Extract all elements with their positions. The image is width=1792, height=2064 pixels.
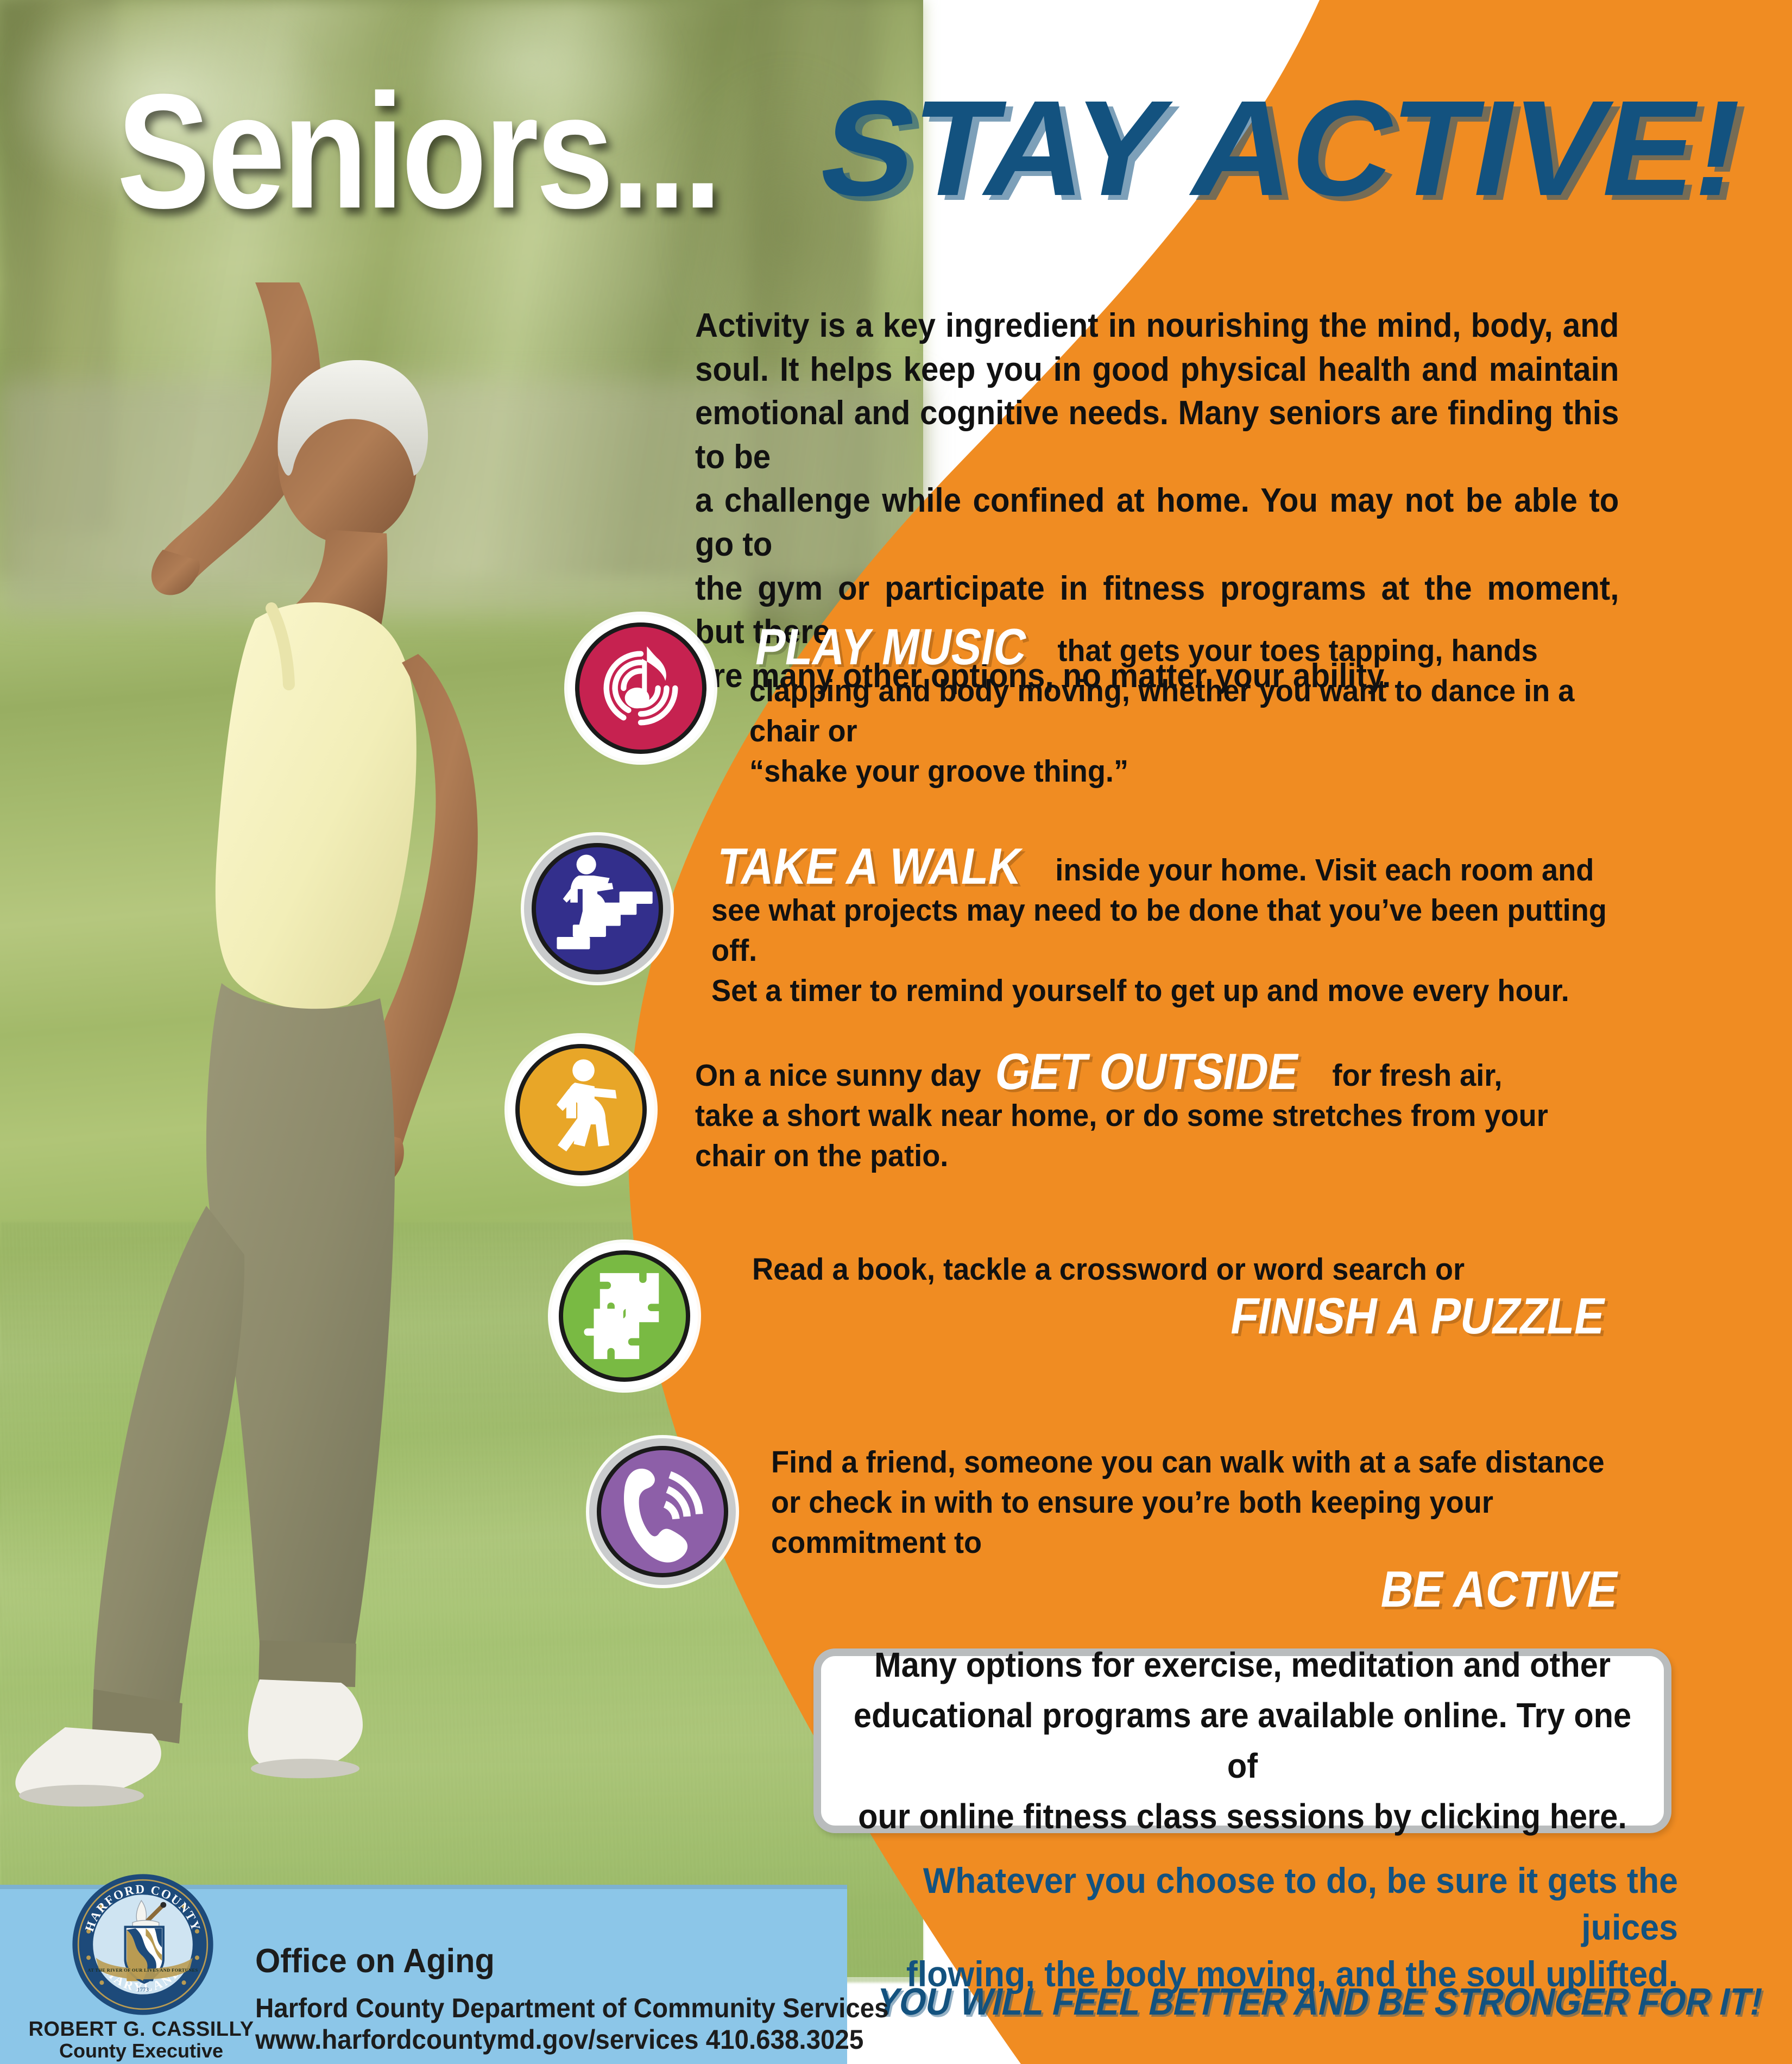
activity-body-be-active-a: Find a friend, someone you can walk with…: [771, 1445, 1605, 1480]
activity-body-take-a-walk-a: inside your home. Visit each room and: [1047, 853, 1594, 888]
activity-body-take-a-walk-b: see what projects may need to be done th…: [711, 893, 1607, 968]
county-executive-title: County Executive: [27, 2040, 255, 2062]
harford-county-seal-logo: HARFORD COUNTY MARYLAND AT THE RIVER OF …: [70, 1871, 216, 2018]
seal-year: 1773: [137, 1986, 149, 1993]
activity-body-get-outside-b: take a short walk near home, or do some …: [695, 1098, 1548, 1133]
activity-body-play-music-c: “shake your groove thing.”: [749, 754, 1128, 789]
online-fitness-callout-box[interactable]: Many options for exercise, meditation an…: [813, 1648, 1671, 1833]
callout-line-2: educational programs are available onlin…: [850, 1690, 1634, 1791]
activity-text-play-music: PLAY MUSIC that gets your toes tapping, …: [749, 624, 1637, 791]
intro-line-2: soul. It helps keep you in good physical…: [695, 348, 1619, 392]
intro-line-1: Activity is a key ingredient in nourishi…: [695, 304, 1619, 348]
intro-line-3: emotional and cognitive needs. Many seni…: [695, 392, 1619, 479]
activity-headline-get-outside: GET OUTSIDE: [989, 1048, 1305, 1095]
activity-body-get-outside-pre: On a nice sunny day: [695, 1058, 989, 1093]
callout-line-3: our online fitness class sessions by cli…: [858, 1791, 1627, 1842]
page-title-stay-active: STAY ACTIVE!: [810, 80, 1754, 216]
intro-line-4: a challenge while confined at home. You …: [695, 479, 1619, 567]
activity-text-take-a-walk: TAKE A WALK inside your home. Visit each…: [711, 843, 1635, 1011]
person-climbing-stairs-icon: [524, 835, 671, 982]
puzzle-pieces-icon: [551, 1243, 698, 1389]
page-title-seniors: Seniors...: [117, 70, 720, 232]
website-and-phone[interactable]: www.harfordcountymd.gov/services 410.638…: [255, 2024, 863, 2055]
activity-headline-play-music: PLAY MUSIC: [749, 624, 1033, 670]
activity-body-finish-a-puzzle-a: Read a book, tackle a crossword or word …: [752, 1252, 1465, 1287]
activity-body-get-outside-c: chair on the patio.: [695, 1138, 948, 1173]
activity-headline-be-active: BE ACTIVE: [1375, 1566, 1625, 1613]
activity-headline-finish-a-puzzle: FINISH A PUZZLE: [1225, 1293, 1612, 1339]
callout-text[interactable]: Many options for exercise, meditation an…: [850, 1656, 1634, 1826]
callout-line-1: Many options for exercise, meditation an…: [874, 1640, 1611, 1690]
seal-motto: AT THE RIVER OF OUR LIVES AND FORTUNES: [87, 1968, 198, 1973]
activity-body-be-active-b: or check in with to ensure you’re both k…: [771, 1485, 1493, 1560]
poster-canvas: Seniors... STAY ACTIVE! Activity is a ke…: [0, 0, 1792, 2064]
activity-text-be-active: Find a friend, someone you can walk with…: [771, 1442, 1638, 1613]
activity-body-play-music-b: clapping and body moving, whether you wa…: [749, 674, 1574, 748]
closing-tagline: YOU WILL FEEL BETTER AND BE STRONGER FOR…: [873, 1980, 1683, 2023]
office-on-aging-title: Office on Aging: [255, 1942, 495, 1980]
activity-headline-take-a-walk: TAKE A WALK: [711, 843, 1028, 890]
activity-text-finish-a-puzzle: Read a book, tackle a crossword or word …: [752, 1249, 1637, 1340]
activity-body-play-music-a: that gets your toes tapping, hands: [1049, 633, 1538, 668]
closing-message: Whatever you choose to do, be sure it ge…: [822, 1858, 1678, 1997]
activity-body-take-a-walk-c: Set a timer to remind yourself to get up…: [711, 973, 1569, 1008]
phone-handset-icon: [589, 1438, 736, 1585]
activity-text-get-outside: On a nice sunny day GET OUTSIDE for fres…: [695, 1048, 1634, 1176]
activity-body-get-outside-a: for fresh air,: [1324, 1058, 1502, 1093]
department-name: Harford County Department of Community S…: [255, 1992, 889, 2024]
music-note-record-icon: [567, 615, 714, 762]
walking-person-icon: [508, 1036, 654, 1183]
county-executive-name: ROBERT G. CASSILLY: [27, 2018, 255, 2041]
closing-line-1: Whatever you choose to do, be sure it ge…: [822, 1858, 1678, 1951]
